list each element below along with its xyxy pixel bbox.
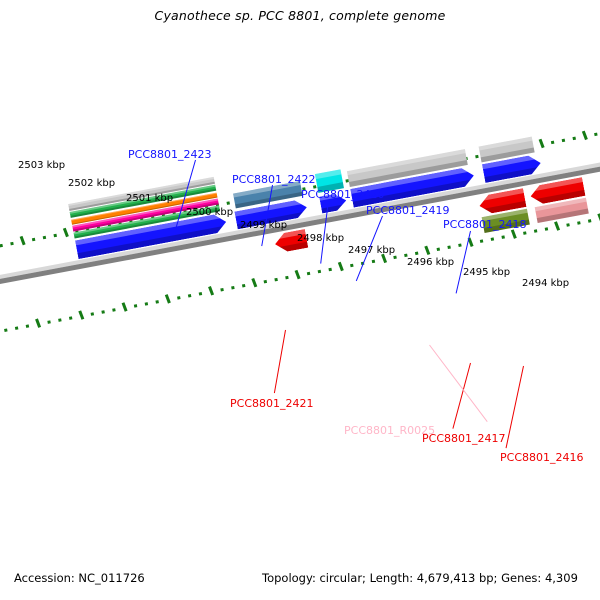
gene-label-pcc8801_2418[interactable]: PCC8801_2418 bbox=[443, 218, 526, 231]
axis-tick-label: 2497 kbp bbox=[348, 245, 395, 256]
gene-label-pcc8801_2423[interactable]: PCC8801_2423 bbox=[128, 148, 211, 161]
status-bar: Accession: NC_011726 Topology: circular;… bbox=[0, 571, 600, 591]
gene-label-pcc8801_2416[interactable]: PCC8801_2416 bbox=[500, 451, 583, 464]
axis-tick-label: 2503 kbp bbox=[18, 160, 65, 171]
genome-map[interactable]: 2503 kbp2502 kbp2501 kbp2500 kbp2499 kbp… bbox=[0, 0, 600, 600]
gene-label-pcc8801_2420[interactable]: PCC8801_2420 bbox=[301, 188, 384, 201]
axis-tick-label: 2495 kbp bbox=[463, 267, 510, 278]
gene-label-pcc8801_2419[interactable]: PCC8801_2419 bbox=[366, 204, 449, 217]
axis-tick-label: 2501 kbp bbox=[126, 193, 173, 204]
leader-line-pcc8801_2421 bbox=[274, 330, 286, 393]
topology-text: Topology: circular; Length: 4,679,413 bp… bbox=[262, 571, 578, 585]
axis-tick-label: 2494 kbp bbox=[522, 278, 569, 289]
accession-text: Accession: NC_011726 bbox=[14, 571, 145, 585]
axis-tick-label: 2502 kbp bbox=[68, 178, 115, 189]
axis-tick-label: 2498 kbp bbox=[297, 233, 344, 244]
leader-line-pcc8801_r0025 bbox=[429, 345, 488, 422]
gene-label-pcc8801_2421[interactable]: PCC8801_2421 bbox=[230, 397, 313, 410]
leader-line-pcc8801_2416 bbox=[506, 366, 524, 448]
axis-tick-label: 2496 kbp bbox=[407, 257, 454, 268]
axis-tick-label: 2500 kbp bbox=[186, 207, 233, 218]
gene-label-pcc8801_r0025[interactable]: PCC8801_R0025 bbox=[344, 424, 435, 437]
gene-label-pcc8801_2422[interactable]: PCC8801_2422 bbox=[232, 173, 315, 186]
